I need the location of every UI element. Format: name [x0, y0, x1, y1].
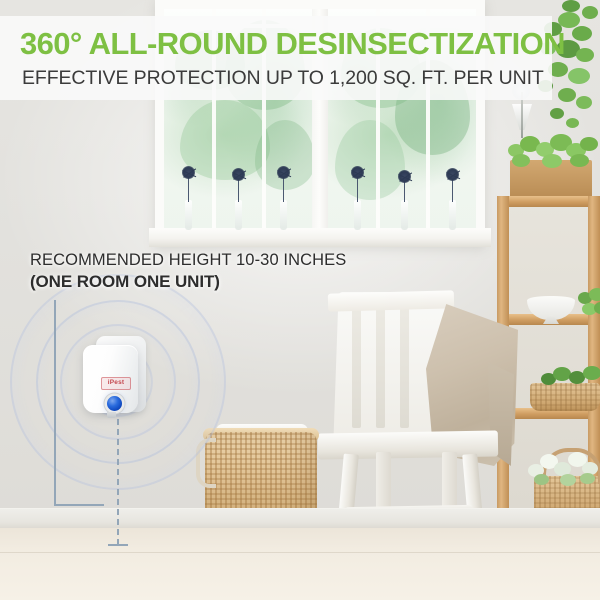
- white-flower-arrangement: [528, 450, 600, 486]
- sill-bottle: [449, 200, 456, 230]
- sill-bottle: [185, 200, 192, 230]
- device-brand-label: iPest: [101, 377, 131, 390]
- installation-callout: RECOMMENDED HEIGHT 10-30 INCHES (ONE ROO…: [30, 250, 346, 292]
- floor-reference-dashed-line: [117, 419, 119, 545]
- window-sill: [149, 228, 491, 247]
- flower-stem: [283, 176, 284, 202]
- banner-headline: 360° ALL-ROUND DESINSECTIZATION: [0, 26, 552, 62]
- device-front-housing: iPest: [83, 345, 138, 413]
- device-led-indicator: [107, 396, 122, 411]
- header-banner: 360° ALL-ROUND DESINSECTIZATION EFFECTIV…: [0, 16, 552, 100]
- sill-bottle: [235, 200, 242, 230]
- thistle-flower: [398, 170, 411, 183]
- flower-stem: [357, 176, 358, 202]
- chair-slat: [352, 306, 361, 428]
- floor-light-sheen: [0, 528, 600, 600]
- callout-line-1: RECOMMENDED HEIGHT 10-30 INCHES: [30, 250, 346, 270]
- ultrasonic-pest-repeller[interactable]: iPest: [80, 336, 156, 420]
- thistle-flower: [277, 166, 290, 179]
- thistle-flower: [446, 168, 459, 181]
- sill-bottle: [354, 200, 361, 230]
- shelf-basket-greenery: [541, 365, 600, 387]
- shelf-potted-plant: [578, 288, 600, 322]
- chair-slat: [400, 306, 409, 428]
- flower-stem: [188, 176, 189, 202]
- thistle-flower: [351, 166, 364, 179]
- white-wooden-chair: [318, 292, 503, 544]
- device-plug-prong: [107, 412, 116, 418]
- banner-subheadline: EFFECTIVE PROTECTION UP TO 1,200 SQ. FT.…: [0, 62, 552, 90]
- floor-reference-tick: [108, 544, 128, 546]
- chair-slat: [376, 306, 385, 428]
- shelf-wicker-basket: [530, 383, 600, 411]
- shelf-top-greenery: [506, 134, 598, 168]
- sill-bottle: [401, 200, 408, 230]
- thistle-flower: [232, 168, 245, 181]
- product-marketing-image: iPest RECOMMENDED HEIGHT 10-30 INCHES (O…: [0, 0, 600, 600]
- thistle-flower: [182, 166, 195, 179]
- chair-top-rail: [328, 290, 454, 311]
- callout-line-2: (ONE ROOM ONE UNIT): [30, 271, 346, 292]
- sill-bottle: [280, 200, 287, 230]
- shelf-board: [497, 196, 600, 207]
